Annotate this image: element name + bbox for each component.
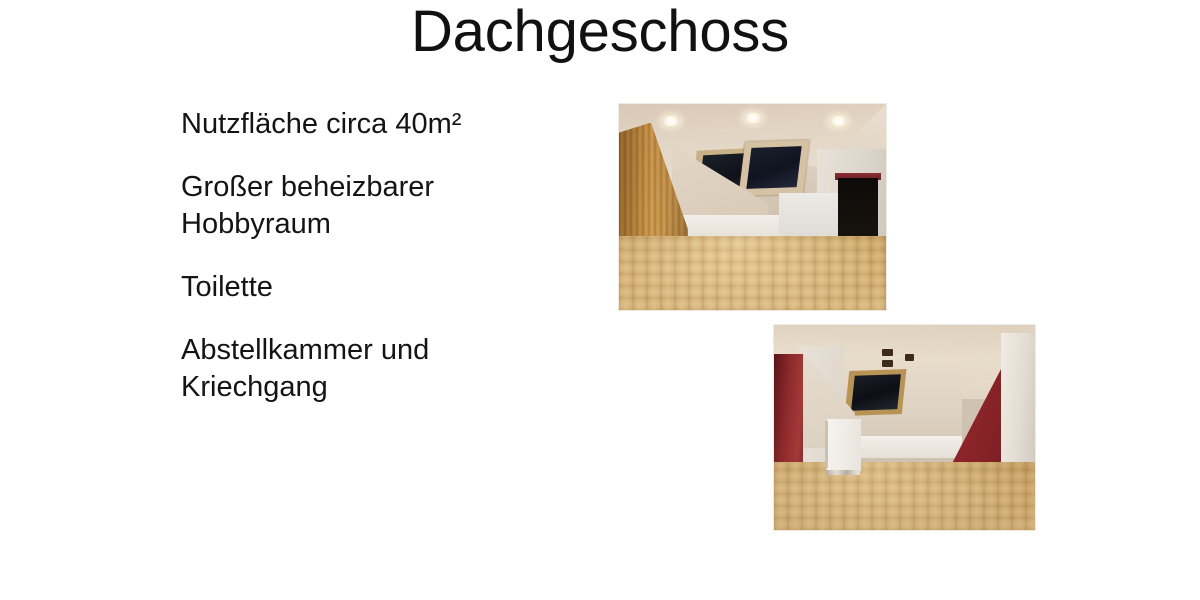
- list-item: Großer beheizbarer Hobbyraum: [181, 169, 581, 243]
- radiator-pipe: [825, 421, 828, 468]
- photo-content: [619, 104, 886, 310]
- window-glass: [851, 375, 901, 411]
- white-wall-panel: [779, 193, 840, 242]
- bullet-line: Abstellkammer und: [181, 332, 581, 369]
- ceiling-fixture: [882, 349, 892, 356]
- ceiling-fixture: [905, 354, 914, 361]
- dormer-window-main: [845, 369, 907, 416]
- bullet-list: Nutzfläche circa 40m² Großer beheizbarer…: [181, 106, 581, 406]
- floor-lighting: [619, 236, 886, 310]
- radiator: [826, 419, 861, 470]
- page-title: Dachgeschoss: [0, 2, 1200, 63]
- photo-content: [774, 325, 1035, 530]
- bullet-line: Nutzfläche circa 40m²: [181, 106, 581, 143]
- ceiling-spotlight: [662, 116, 681, 125]
- window-glass: [746, 147, 801, 189]
- bullet-line: Hobbyraum: [181, 206, 581, 243]
- slide-canvas: Dachgeschoss Nutzfläche circa 40m² Große…: [0, 0, 1200, 600]
- ceiling-spotlight: [830, 116, 847, 125]
- ceiling-spotlight: [744, 113, 761, 122]
- bullet-line: Toilette: [181, 269, 581, 306]
- ceiling-fixture: [882, 360, 892, 367]
- floor-lighting: [774, 462, 1035, 530]
- list-item: Abstellkammer und Kriechgang: [181, 332, 581, 406]
- dormer-window-main: [738, 140, 809, 196]
- list-item: Toilette: [181, 269, 581, 306]
- photo-attic-room-red-walls: [773, 324, 1036, 531]
- bullet-line: Großer beheizbarer: [181, 169, 581, 206]
- dark-doorway: [838, 178, 878, 240]
- list-item: Nutzfläche circa 40m²: [181, 106, 581, 143]
- bullet-line: Kriechgang: [181, 369, 581, 406]
- photo-attic-room-wood-panelling: [618, 103, 887, 311]
- radiator-feet: [826, 470, 860, 475]
